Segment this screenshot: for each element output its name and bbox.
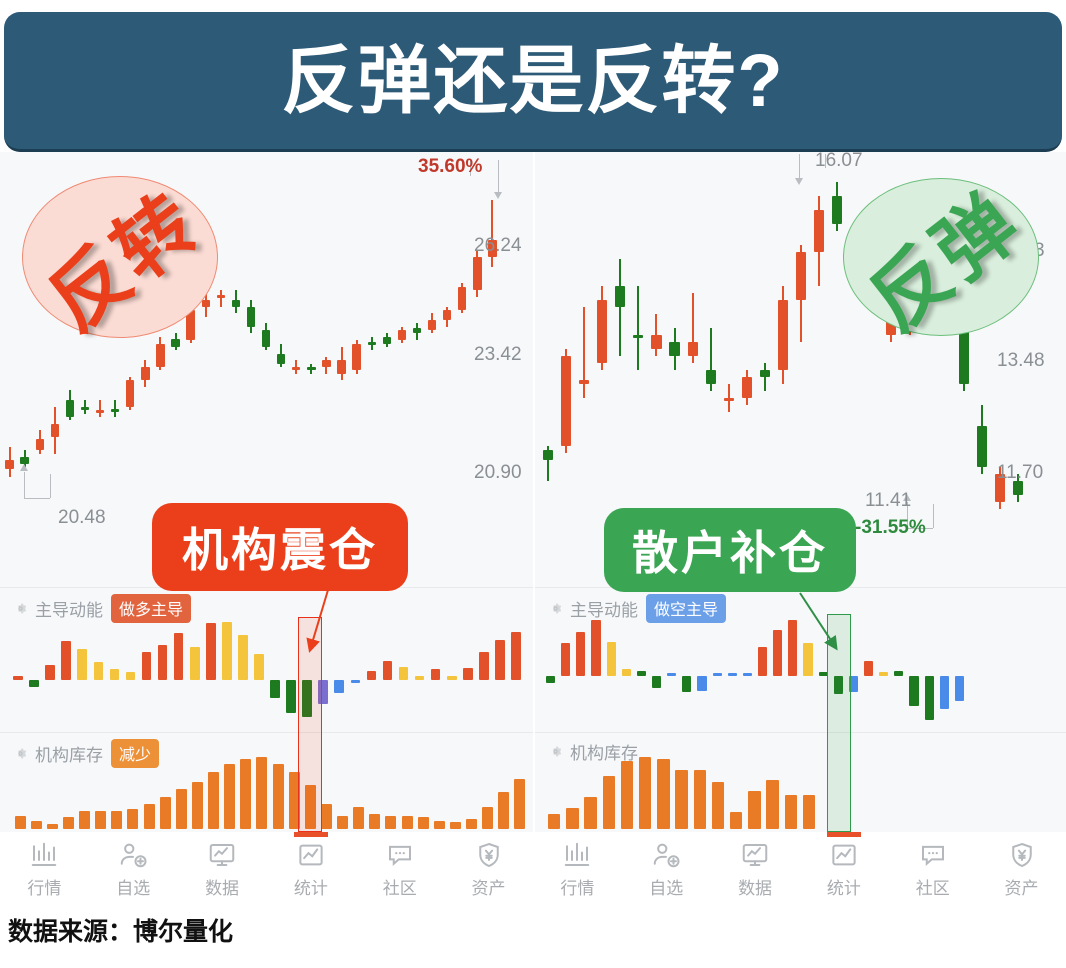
momentum-bar (495, 640, 505, 680)
momentum-bar (773, 630, 782, 676)
person-add-icon (651, 840, 681, 870)
inventory-bar (603, 776, 615, 829)
candle-body (688, 342, 698, 356)
momentum-bar (622, 669, 631, 676)
inventory-bar (657, 759, 669, 829)
nav-item-社区[interactable]: 社区 (888, 832, 977, 899)
page-title: 反弹还是反转? (281, 44, 784, 118)
candle-wick (619, 259, 621, 356)
candle-body (217, 295, 225, 298)
callout-right-text: 散户补仓 (632, 517, 828, 583)
nav-item-label: 社区 (916, 874, 950, 899)
candle-body (20, 457, 28, 464)
momentum-bar (955, 676, 964, 701)
nav-item-label: 社区 (383, 874, 417, 899)
low-price-marker (24, 464, 58, 498)
candle-body (262, 330, 270, 347)
nav-item-label: 自选 (116, 874, 150, 899)
momentum-bar (334, 680, 344, 693)
nav-item-自选[interactable]: 自选 (89, 832, 178, 899)
inventory-bar (79, 811, 90, 829)
momentum-bar (351, 680, 361, 683)
candle-body (724, 398, 734, 401)
candle-body (778, 300, 788, 370)
momentum-bar (667, 673, 676, 676)
candle-body (443, 310, 451, 320)
price-axis-label: 16.07 (815, 152, 863, 172)
inventory-bar (47, 824, 58, 829)
price-axis-label: 20.90 (474, 462, 522, 484)
inventory-bar (675, 770, 687, 829)
inventory-bar (385, 816, 396, 829)
candle-body (141, 367, 149, 380)
nav-item-label: 数据 (738, 874, 772, 899)
momentum-bar (511, 632, 521, 680)
title-banner: 反弹还是反转? (4, 12, 1062, 152)
momentum-panel-right[interactable]: 主导动能 做空主导 (535, 587, 1066, 732)
candle-body (796, 252, 806, 301)
momentum-label-left: 主导动能 (35, 596, 103, 621)
momentum-bar (728, 673, 737, 676)
momentum-bar (925, 676, 934, 720)
nav-item-label: 统计 (294, 874, 328, 899)
candle-body (473, 257, 481, 290)
momentum-bar (743, 673, 752, 676)
inventory-bar (514, 779, 525, 829)
person-add-icon (118, 840, 148, 870)
candle-body (111, 409, 119, 412)
momentum-bar (463, 668, 473, 680)
momentum-bar (142, 652, 152, 680)
inventory-bar (160, 797, 171, 829)
candlestick (458, 152, 466, 587)
candle-body (322, 360, 330, 367)
shield-yuan-icon (1007, 840, 1037, 870)
momentum-bar (607, 642, 616, 676)
price-axis-label: 23.42 (474, 344, 522, 366)
candle-body (543, 450, 553, 460)
momentum-bar (174, 633, 184, 680)
momentum-bar (652, 676, 661, 688)
candle-body (669, 342, 679, 356)
inventory-bar (434, 821, 445, 829)
momentum-bar (158, 645, 168, 680)
momentum-panel-left[interactable]: 主导动能 做多主导 (0, 587, 533, 732)
inventory-panel-left[interactable]: 机构库存 减少 (0, 732, 533, 832)
poster-root: 反弹还是反转? 主导动能 做多主导 机构库存 减少 (0, 0, 1066, 968)
momentum-bar (431, 669, 441, 680)
price-axis-label: 35.60% (418, 156, 482, 178)
gear-icon (549, 745, 562, 758)
candle-body (651, 335, 661, 349)
monitor-chart-icon (740, 840, 770, 870)
bar-chart-icon (29, 840, 59, 870)
candle-body (96, 410, 104, 413)
momentum-bar (758, 647, 767, 676)
inventory-bar (498, 792, 509, 829)
momentum-bar (864, 661, 873, 676)
candle-body (368, 342, 376, 345)
momentum-bar (77, 649, 87, 680)
candle-body (398, 330, 406, 340)
inventory-bar (639, 757, 651, 829)
inventory-bar (402, 816, 413, 829)
shield-yuan-icon (474, 840, 504, 870)
inventory-bar (466, 819, 477, 829)
inventory-bar (273, 764, 284, 829)
momentum-bar (29, 680, 39, 687)
candle-body (5, 460, 13, 468)
candle-body (413, 328, 421, 333)
candle-wick (637, 286, 639, 369)
candle-body (292, 367, 300, 370)
nav-item-社区[interactable]: 社区 (355, 832, 444, 899)
candlestick (473, 152, 481, 587)
price-axis-label: 13.48 (997, 350, 1045, 372)
nav-item-数据[interactable]: 数据 (711, 832, 800, 899)
inventory-bar (192, 782, 203, 829)
momentum-bar (270, 680, 280, 698)
nav-item-label: 数据 (205, 874, 239, 899)
inventory-bar (127, 809, 138, 829)
nav-active-indicator (294, 832, 328, 837)
candle-body (277, 354, 285, 364)
nav-item-资产[interactable]: 资产 (444, 832, 533, 899)
candle-wick (99, 400, 101, 417)
price-axis-label: 26.24 (474, 235, 522, 257)
momentum-header-left[interactable]: 主导动能 做多主导 (14, 594, 191, 623)
momentum-bar (546, 676, 555, 683)
nav-item-行情[interactable]: 行情 (533, 832, 622, 899)
gear-icon (14, 602, 27, 615)
candle-body (814, 210, 824, 252)
momentum-bar (399, 667, 409, 680)
candle-body (383, 337, 391, 344)
inventory-bar (694, 770, 706, 829)
inventory-bar (95, 811, 106, 829)
nav-active-indicator (827, 832, 861, 837)
inventory-bar (450, 822, 461, 829)
price-axis-label: -31.55% (855, 517, 926, 539)
line-chart-square-icon (296, 840, 326, 870)
nav-item-统计[interactable]: 统计 (266, 832, 355, 899)
candle-body (832, 196, 842, 224)
momentum-label-right: 主导动能 (570, 596, 638, 621)
candle-body (615, 286, 625, 307)
candlestick (488, 152, 496, 587)
inventory-bar (111, 811, 122, 829)
nav-item-自选[interactable]: 自选 (622, 832, 711, 899)
inventory-bar (208, 772, 219, 829)
inventory-bar (321, 804, 332, 829)
inventory-bar (144, 804, 155, 829)
momentum-badge-right[interactable]: 做空主导 (646, 594, 726, 623)
nav-item-label: 资产 (472, 874, 506, 899)
momentum-bar (713, 673, 722, 676)
inventory-bar (31, 821, 42, 829)
inventory-bar (418, 817, 429, 829)
candle-body (337, 360, 345, 373)
monitor-chart-icon (207, 840, 237, 870)
price-axis-label: 11.41 (865, 490, 911, 512)
inventory-bar (256, 757, 267, 829)
momentum-badge-left[interactable]: 做多主导 (111, 594, 191, 623)
highlight-band (827, 614, 851, 832)
momentum-bar (415, 676, 425, 680)
inventory-bar (176, 789, 187, 829)
inventory-bar (803, 795, 815, 829)
bottom-nav-right[interactable]: 行情自选数据统计社区资产 (533, 832, 1066, 908)
candle-body (742, 377, 752, 398)
candle-body (428, 320, 436, 330)
candle-body (51, 424, 59, 437)
inventory-bar (785, 795, 797, 829)
candlestick (20, 152, 28, 587)
momentum-bar (383, 661, 393, 680)
inventory-bar (15, 816, 26, 829)
gear-icon (14, 747, 27, 760)
inventory-badge-left[interactable]: 减少 (111, 739, 159, 768)
candle-wick (583, 307, 585, 397)
callout-left-text: 机构震仓 (182, 514, 378, 580)
bottom-nav-left[interactable]: 行情自选数据统计社区资产 (0, 832, 533, 908)
momentum-bar (367, 671, 377, 680)
inventory-label-left: 机构库存 (35, 741, 103, 766)
momentum-bar (879, 672, 888, 676)
candle-wick (220, 290, 222, 307)
nav-item-资产[interactable]: 资产 (977, 832, 1066, 899)
nav-item-label: 行情 (560, 874, 594, 899)
momentum-bar (447, 676, 457, 680)
momentum-bar (286, 680, 296, 713)
price-axis-label: 11.70 (997, 462, 1043, 484)
inventory-bar (353, 807, 364, 829)
momentum-bar (894, 671, 903, 676)
momentum-bar (190, 647, 200, 680)
inventory-bar (730, 812, 742, 829)
candle-body (202, 300, 210, 307)
candle-body (706, 370, 716, 384)
momentum-bar (803, 643, 812, 676)
candle-body (633, 335, 643, 338)
momentum-bar (238, 635, 248, 680)
candle-body (36, 439, 44, 451)
momentum-bar (126, 672, 136, 680)
candlestick (413, 152, 421, 587)
nav-item-行情[interactable]: 行情 (0, 832, 89, 899)
momentum-bar (591, 620, 600, 676)
callout-retail-addposition[interactable]: 散户补仓 (604, 508, 856, 592)
stamp-rebound: 反弹 (843, 178, 1039, 336)
candlestick (443, 152, 451, 587)
momentum-bar (909, 676, 918, 706)
inventory-bar (621, 761, 633, 829)
nav-item-label: 统计 (827, 874, 861, 899)
inventory-bar (566, 808, 578, 829)
nav-item-数据[interactable]: 数据 (178, 832, 267, 899)
momentum-bar (110, 669, 120, 680)
candle-body (307, 367, 315, 370)
inventory-bar (63, 817, 74, 829)
nav-item-label: 行情 (27, 874, 61, 899)
candlestick (5, 152, 13, 587)
bar-chart-icon (562, 840, 592, 870)
candle-body (66, 400, 74, 417)
candle-wick (764, 363, 766, 391)
candle-body (156, 344, 164, 367)
candle-body (977, 426, 987, 468)
inventory-bar (369, 814, 380, 829)
momentum-bar (576, 632, 585, 676)
data-source-footer: 数据来源：博尔量化 (8, 912, 233, 948)
momentum-bar (45, 665, 55, 680)
inventory-bar (240, 759, 251, 829)
stamp-reversal: 反转 (22, 176, 218, 338)
nav-item-label: 资产 (1005, 874, 1039, 899)
candlestick (543, 152, 553, 587)
inventory-bar (584, 797, 596, 829)
momentum-bar (13, 676, 23, 680)
nav-item-统计[interactable]: 统计 (799, 832, 888, 899)
momentum-bar (61, 641, 71, 680)
momentum-bar (682, 676, 691, 692)
inventory-bar (766, 780, 778, 829)
momentum-header-right[interactable]: 主导动能 做空主导 (549, 594, 726, 623)
candle-body (458, 287, 466, 310)
inventory-panel-right[interactable]: 机构库存 (535, 732, 1066, 832)
inventory-bar (224, 764, 235, 829)
inventory-bar (548, 814, 560, 829)
gear-icon (549, 602, 562, 615)
candlestick (579, 152, 589, 587)
inventory-bar (482, 807, 493, 829)
chat-bubble-icon (385, 840, 415, 870)
candle-body (247, 307, 255, 327)
momentum-bar (561, 643, 570, 676)
chat-bubble-icon (918, 840, 948, 870)
momentum-bar (94, 662, 104, 680)
inventory-bar (748, 791, 760, 829)
momentum-bar (940, 676, 949, 709)
inventory-bar (337, 816, 348, 829)
candle-body (81, 407, 89, 410)
candle-body (760, 370, 770, 377)
candle-body (232, 300, 240, 307)
candle-body (561, 356, 571, 446)
candlestick (561, 152, 571, 587)
highlight-band (298, 617, 322, 832)
momentum-bar (479, 652, 489, 680)
line-chart-square-icon (829, 840, 859, 870)
callout-institution-shakeout[interactable]: 机构震仓 (152, 503, 408, 591)
candlestick (428, 152, 436, 587)
candle-body (579, 380, 589, 383)
momentum-bar (206, 623, 216, 680)
candle-body (597, 300, 607, 363)
momentum-bar (222, 622, 232, 680)
candle-body (171, 339, 179, 347)
inventory-bar (712, 782, 724, 829)
nav-item-label: 自选 (649, 874, 683, 899)
candle-body (352, 344, 360, 371)
momentum-bar (637, 671, 646, 676)
candle-body (126, 380, 134, 407)
price-axis-label: 20.48 (58, 507, 106, 529)
momentum-bar (788, 620, 797, 676)
inventory-header-left[interactable]: 机构库存 减少 (14, 739, 159, 768)
momentum-bar (254, 654, 264, 680)
momentum-bar (697, 676, 706, 691)
